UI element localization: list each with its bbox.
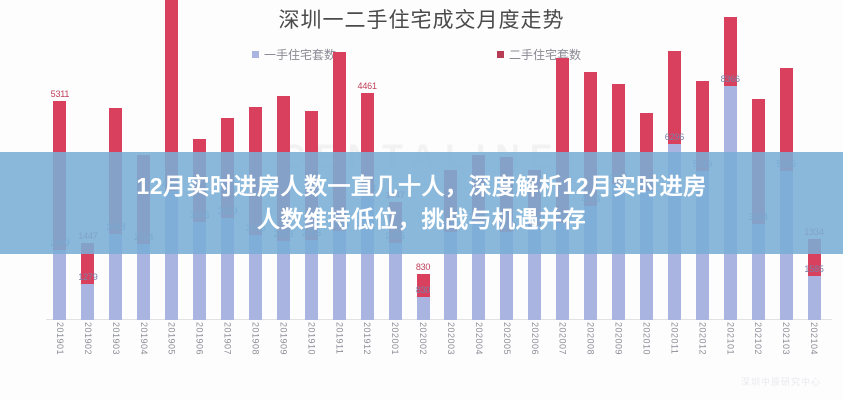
x-tick-label: 202006 [530, 322, 540, 355]
source-watermark: 深圳中原研究中心 [741, 375, 821, 388]
x-tick-label: 202011 [669, 322, 679, 354]
bar-segment-secondhand[interactable] [668, 51, 681, 144]
bar-data-label-new: 8366 [721, 74, 740, 84]
x-tick-label: 201905 [167, 322, 177, 355]
x-tick-label: 202008 [586, 322, 596, 355]
headline-line-2: 人数维持低位，挑战与机遇并存 [257, 205, 586, 234]
legend-label-secondhand-homes: 二手住宅套数 [509, 46, 581, 63]
chart-legend: 一手住宅套数 二手住宅套数 [0, 46, 843, 66]
legend-label-new-homes: 一手住宅套数 [264, 46, 336, 63]
x-tick-label: 201911 [334, 322, 344, 354]
x-tick-label: 202102 [753, 322, 763, 355]
bar-column[interactable] [417, 274, 430, 320]
bar-data-label-new: 1279 [78, 272, 97, 282]
legend-item-new-homes[interactable]: 一手住宅套数 [252, 46, 336, 63]
bar-segment-new[interactable] [417, 297, 430, 320]
x-tick-label: 201912 [362, 322, 372, 355]
x-tick-label: 202003 [446, 322, 456, 355]
bar-data-label-secondhand: 4461 [358, 81, 377, 91]
x-tick-label: 202103 [781, 322, 791, 355]
bar-segment-new[interactable] [389, 243, 402, 320]
chart-title: 深圳一二手住宅成交月度走势 [0, 4, 843, 34]
x-tick-label: 201906 [195, 322, 205, 355]
x-tick-label: 202010 [641, 322, 651, 355]
x-tick-label: 202004 [474, 322, 484, 355]
x-tick-label: 202005 [502, 322, 512, 355]
x-axis-tick-labels: 2019012019022019032019042019052019062019… [46, 322, 828, 362]
x-tick-label: 202009 [614, 322, 624, 355]
bar-segment-new[interactable] [81, 284, 94, 320]
legend-swatch-secondhand-homes [497, 51, 504, 58]
x-tick-label: 201903 [111, 322, 121, 355]
x-tick-label: 202104 [809, 322, 819, 355]
x-tick-label: 202002 [418, 322, 428, 355]
bar-data-label-new: 6296 [665, 132, 684, 142]
x-tick-label: 201908 [250, 322, 260, 355]
legend-swatch-new-homes [252, 51, 259, 58]
bar-data-label-secondhand: 5311 [51, 89, 70, 99]
x-tick-label: 202001 [390, 322, 400, 355]
bar-segment-new[interactable] [808, 276, 821, 320]
bar-data-label-new: 830 [416, 285, 430, 295]
x-tick-label: 202007 [558, 322, 568, 355]
chart-screenshot: 深圳一二手住宅成交月度走势 一手住宅套数 二手住宅套数 CENTALINE 24… [0, 0, 843, 400]
x-tick-label: 202101 [725, 322, 735, 355]
bar-segment-new[interactable] [137, 244, 150, 320]
bar-data-label-secondhand: 830 [416, 262, 430, 272]
x-tick-label: 201904 [139, 322, 149, 355]
x-axis-baseline [46, 319, 832, 320]
x-tick-label: 201901 [55, 322, 65, 355]
headline-line-1: 12月实时进房人数一直几十人，深度解析12月实时进房 [136, 172, 706, 201]
bar-segment-new[interactable] [53, 250, 66, 320]
bar-data-label-new: 1585 [804, 264, 823, 274]
x-tick-label: 201902 [83, 322, 93, 355]
x-tick-label: 201910 [306, 322, 316, 355]
headline-overlay: 12月实时进房人数一直几十人，深度解析12月实时进房 人数维持低位，挑战与机遇并… [0, 152, 843, 254]
x-tick-label: 201907 [223, 322, 233, 355]
x-tick-label: 202012 [697, 322, 707, 355]
x-tick-label: 201909 [278, 322, 288, 355]
